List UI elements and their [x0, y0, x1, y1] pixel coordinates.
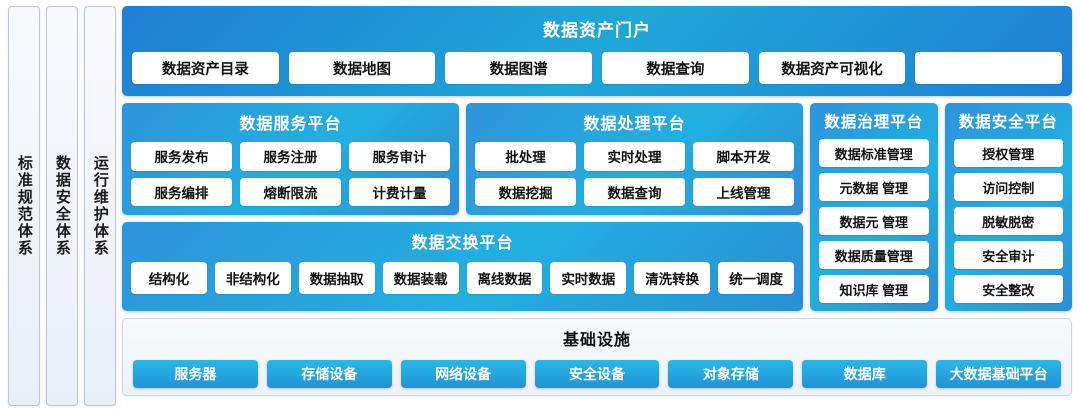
- processing-chip-script-dev[interactable]: 脚本开发: [693, 142, 794, 171]
- portal-chip-map[interactable]: 数据地图: [289, 52, 436, 84]
- infra-chip-object-storage[interactable]: 对象存储: [668, 360, 793, 388]
- security-chip-rectification[interactable]: 安全整改: [954, 275, 1064, 303]
- data-asset-portal-card: 数据资产门户 数据资产目录 数据地图 数据图谱 数据查询 数据资产可视化: [122, 6, 1072, 96]
- exchange-chip-extract[interactable]: 数据抽取: [299, 262, 375, 294]
- infra-chip-bigdata-platform[interactable]: 大数据基础平台: [936, 360, 1061, 388]
- exchange-chip-scheduling[interactable]: 统一调度: [718, 262, 794, 294]
- pillar-label: 标准规范体系: [16, 155, 32, 257]
- exchange-chip-cleansing[interactable]: 清洗转换: [634, 262, 710, 294]
- portal-chip-row: 数据资产目录 数据地图 数据图谱 数据查询 数据资产可视化: [132, 52, 1062, 84]
- processing-platform-chips: 批处理 实时处理 脚本开发 数据挖掘 数据查询 上线管理: [475, 142, 794, 206]
- security-chip-audit[interactable]: 安全审计: [954, 241, 1064, 269]
- infrastructure-title: 基础设施: [133, 326, 1061, 350]
- governance-platform-title: 数据治理平台: [819, 110, 929, 132]
- security-platform-title: 数据安全平台: [954, 110, 1064, 132]
- main-column: 数据资产门户 数据资产目录 数据地图 数据图谱 数据查询 数据资产可视化 数据服…: [122, 6, 1072, 406]
- service-chip-orchestration[interactable]: 服务编排: [131, 178, 232, 207]
- pillar-data-security: 数据安全体系: [46, 6, 78, 406]
- governance-chip-data-quality[interactable]: 数据质量管理: [819, 241, 929, 269]
- processing-chip-realtime[interactable]: 实时处理: [584, 142, 685, 171]
- data-exchange-platform-card: 数据交换平台 结构化 非结构化 数据抽取 数据装载 离线数据 实时数据 清洗转换…: [122, 222, 803, 311]
- processing-chip-release-mgmt[interactable]: 上线管理: [693, 178, 794, 207]
- security-chip-masking[interactable]: 脱敏脱密: [954, 207, 1064, 235]
- data-processing-platform-card: 数据处理平台 批处理 实时处理 脚本开发 数据挖掘 数据查询 上线管理: [466, 103, 803, 215]
- portal-title: 数据资产门户: [132, 16, 1062, 41]
- pillar-operations-maintenance: 运行维护体系: [84, 6, 116, 406]
- infra-chip-security-device[interactable]: 安全设备: [535, 360, 660, 388]
- exchange-platform-title: 数据交换平台: [131, 229, 794, 253]
- data-service-platform-card: 数据服务平台 服务发布 服务注册 服务审计 服务编排 熔断限流 计费计量: [122, 103, 459, 215]
- governance-chip-knowledge-base[interactable]: 知识库 管理: [819, 275, 929, 303]
- service-platform-title: 数据服务平台: [131, 110, 450, 134]
- security-chip-access-control[interactable]: 访问控制: [954, 173, 1064, 201]
- exchange-chip-unstructured[interactable]: 非结构化: [215, 262, 291, 294]
- infrastructure-card: 基础设施 服务器 存储设备 网络设备 安全设备 对象存储 数据库 大数据基础平台: [122, 318, 1072, 396]
- exchange-chip-realtime[interactable]: 实时数据: [550, 262, 626, 294]
- pillar-label: 数据安全体系: [54, 155, 70, 257]
- vertical-pillars: 标准规范体系 数据安全体系 运行维护体系: [8, 6, 116, 406]
- governance-chip-data-standard[interactable]: 数据标准管理: [819, 139, 929, 167]
- processing-chip-batch[interactable]: 批处理: [475, 142, 576, 171]
- chip-row: 数据挖掘 数据查询 上线管理: [475, 178, 794, 207]
- pillar-standards: 标准规范体系: [8, 6, 40, 406]
- infra-chip-storage[interactable]: 存储设备: [267, 360, 392, 388]
- infra-chip-database[interactable]: 数据库: [802, 360, 927, 388]
- data-governance-platform-card: 数据治理平台 数据标准管理 元数据 管理 数据元 管理 数据质量管理 知识库 管…: [810, 103, 938, 311]
- chip-row: 批处理 实时处理 脚本开发: [475, 142, 794, 171]
- security-chip-authorization[interactable]: 授权管理: [954, 139, 1064, 167]
- portal-chip-catalog[interactable]: 数据资产目录: [132, 52, 279, 84]
- service-platform-chips: 服务发布 服务注册 服务审计 服务编排 熔断限流 计费计量: [131, 142, 450, 206]
- processing-chip-query[interactable]: 数据查询: [584, 178, 685, 207]
- security-platform-chips: 授权管理 访问控制 脱敏脱密 安全审计 安全整改: [954, 139, 1064, 303]
- chip-row: 服务编排 熔断限流 计费计量: [131, 178, 450, 207]
- infra-chip-server[interactable]: 服务器: [133, 360, 258, 388]
- portal-chip-graph[interactable]: 数据图谱: [445, 52, 592, 84]
- service-chip-register[interactable]: 服务注册: [240, 142, 341, 171]
- exchange-platform-chips: 结构化 非结构化 数据抽取 数据装载 离线数据 实时数据 清洗转换 统一调度: [131, 262, 794, 294]
- platform-right-column: 数据治理平台 数据标准管理 元数据 管理 数据元 管理 数据质量管理 知识库 管…: [810, 103, 1072, 311]
- pillar-label: 运行维护体系: [92, 155, 108, 257]
- service-chip-audit[interactable]: 服务审计: [349, 142, 450, 171]
- service-chip-billing[interactable]: 计费计量: [349, 178, 450, 207]
- architecture-diagram: 标准规范体系 数据安全体系 运行维护体系 数据资产门户 数据资产目录 数据地图 …: [0, 0, 1080, 412]
- platform-top-row: 数据服务平台 服务发布 服务注册 服务审计 服务编排 熔断限流 计费计量: [122, 103, 803, 215]
- platform-band: 数据服务平台 服务发布 服务注册 服务审计 服务编排 熔断限流 计费计量: [122, 103, 1072, 311]
- infrastructure-chips: 服务器 存储设备 网络设备 安全设备 对象存储 数据库 大数据基础平台: [133, 360, 1061, 388]
- portal-chip-visualization[interactable]: 数据资产可视化: [759, 52, 906, 84]
- infra-chip-network[interactable]: 网络设备: [401, 360, 526, 388]
- processing-chip-mining[interactable]: 数据挖掘: [475, 178, 576, 207]
- governance-platform-chips: 数据标准管理 元数据 管理 数据元 管理 数据质量管理 知识库 管理: [819, 139, 929, 303]
- portal-chip-empty[interactable]: [915, 52, 1062, 84]
- service-chip-publish[interactable]: 服务发布: [131, 142, 232, 171]
- portal-chip-query[interactable]: 数据查询: [602, 52, 749, 84]
- data-security-platform-card: 数据安全平台 授权管理 访问控制 脱敏脱密 安全审计 安全整改: [945, 103, 1073, 311]
- governance-chip-metadata[interactable]: 元数据 管理: [819, 173, 929, 201]
- governance-chip-data-element[interactable]: 数据元 管理: [819, 207, 929, 235]
- exchange-chip-structured[interactable]: 结构化: [131, 262, 207, 294]
- exchange-chip-offline[interactable]: 离线数据: [467, 262, 543, 294]
- service-chip-circuit-breaker[interactable]: 熔断限流: [240, 178, 341, 207]
- processing-platform-title: 数据处理平台: [475, 110, 794, 134]
- chip-row: 服务发布 服务注册 服务审计: [131, 142, 450, 171]
- platform-left-column: 数据服务平台 服务发布 服务注册 服务审计 服务编排 熔断限流 计费计量: [122, 103, 803, 311]
- exchange-chip-load[interactable]: 数据装载: [383, 262, 459, 294]
